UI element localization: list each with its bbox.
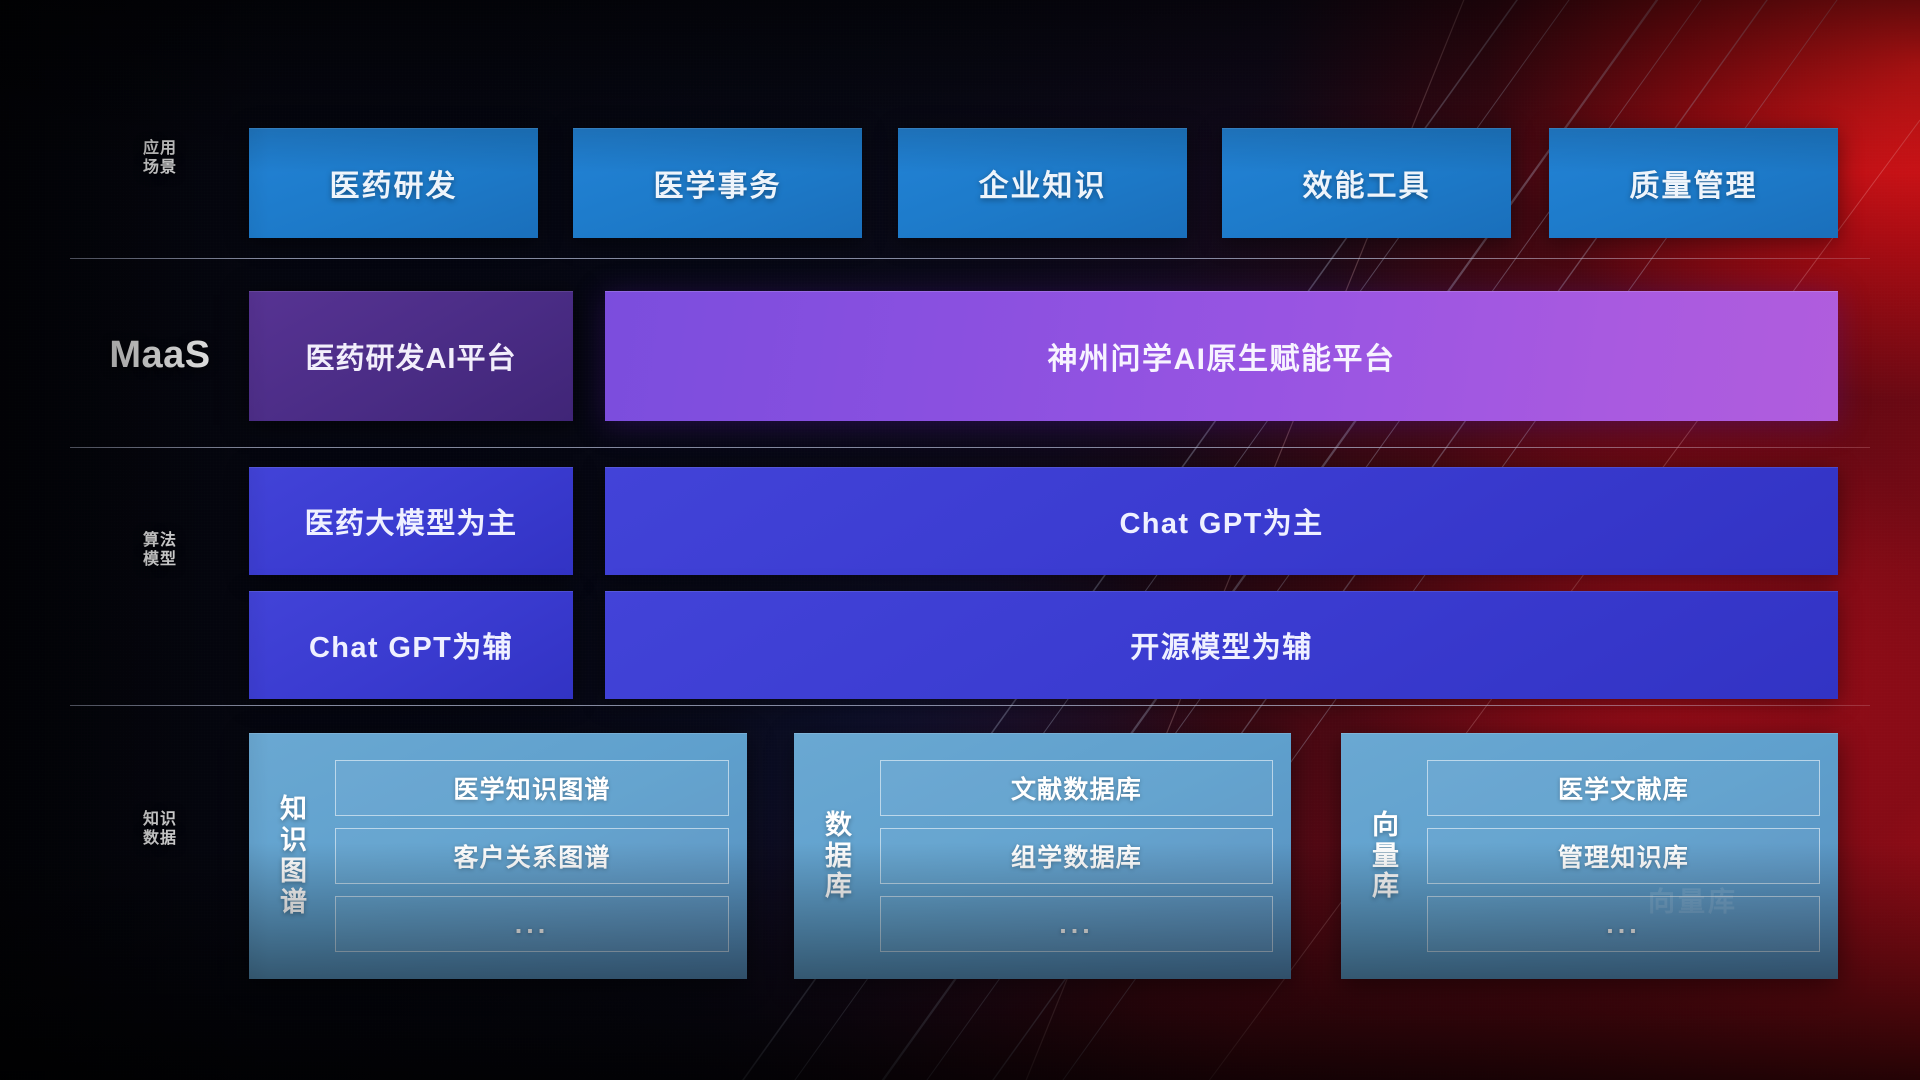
architecture-diagram: 应用 场景 医药研发 医学事务 企业知识 效能工具 质量管理 MaaS 医药研发… (0, 0, 1920, 1080)
background-vignette (0, 0, 1920, 1080)
